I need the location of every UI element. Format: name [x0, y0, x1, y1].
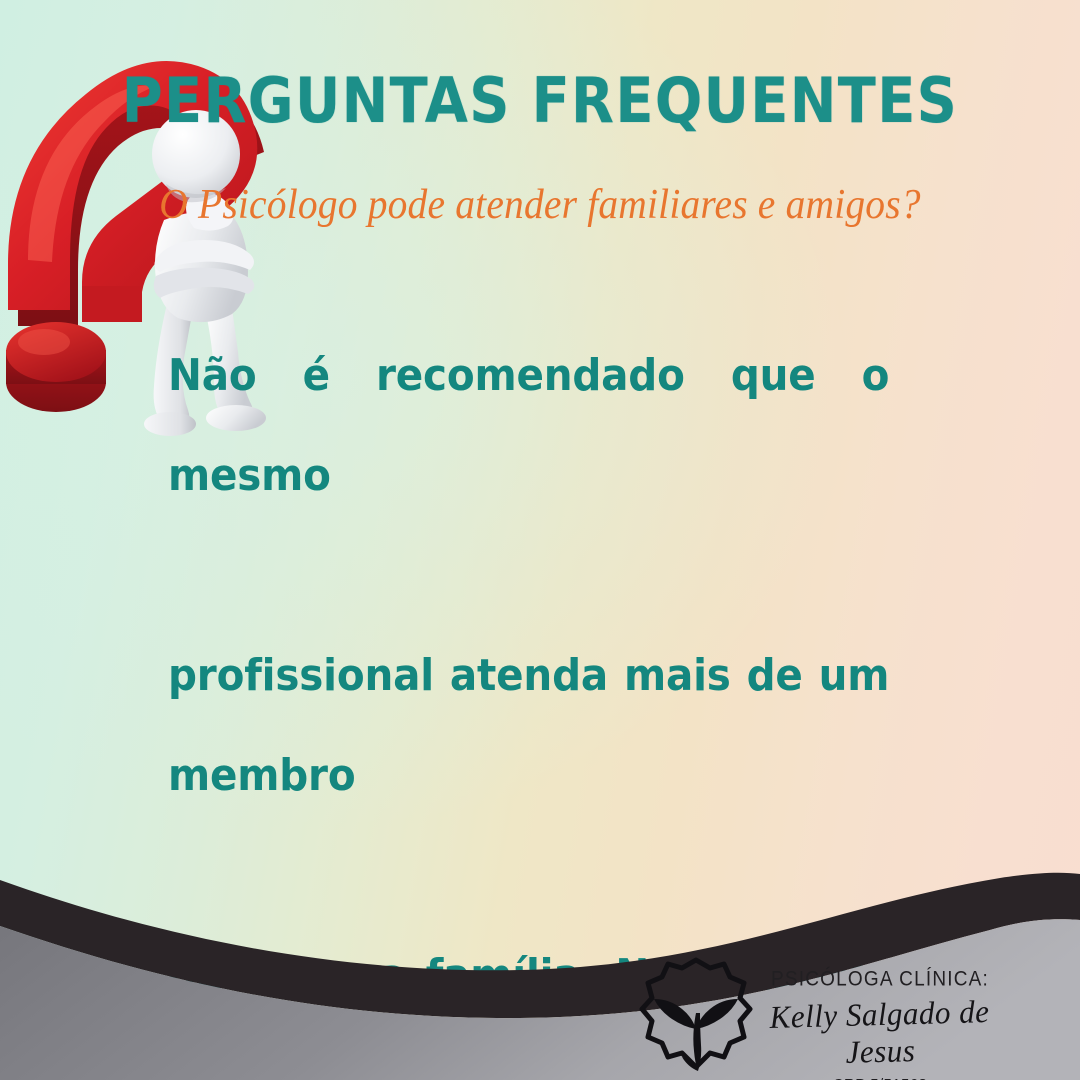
page-title: PERGUNTAS FREQUENTES — [54, 70, 1026, 132]
faq-poster: PERGUNTAS FREQUENTES O Psicólogo pode at… — [0, 0, 1080, 1080]
lotus-flower-emblem-icon — [636, 955, 756, 1077]
footer-wave: PSICÓLOGA CLÍNICA: Kelly Salgado de Jesu… — [0, 860, 1080, 1080]
clinic-logo: PSICÓLOGA CLÍNICA: Kelly Salgado de Jesu… — [636, 955, 996, 1080]
logo-crp-number: CRP:5/51568 — [764, 1076, 996, 1080]
logo-name: Kelly Salgado de Jesus — [767, 993, 994, 1073]
faq-question: O Psicólogo pode atender familiares e am… — [32, 182, 1047, 228]
logo-profession: PSICÓLOGA CLÍNICA: — [764, 968, 996, 993]
clinic-logo-text: PSICÓLOGA CLÍNICA: Kelly Salgado de Jesu… — [764, 955, 996, 1080]
answer-line: Não é recomendado que o mesmo — [168, 326, 889, 626]
